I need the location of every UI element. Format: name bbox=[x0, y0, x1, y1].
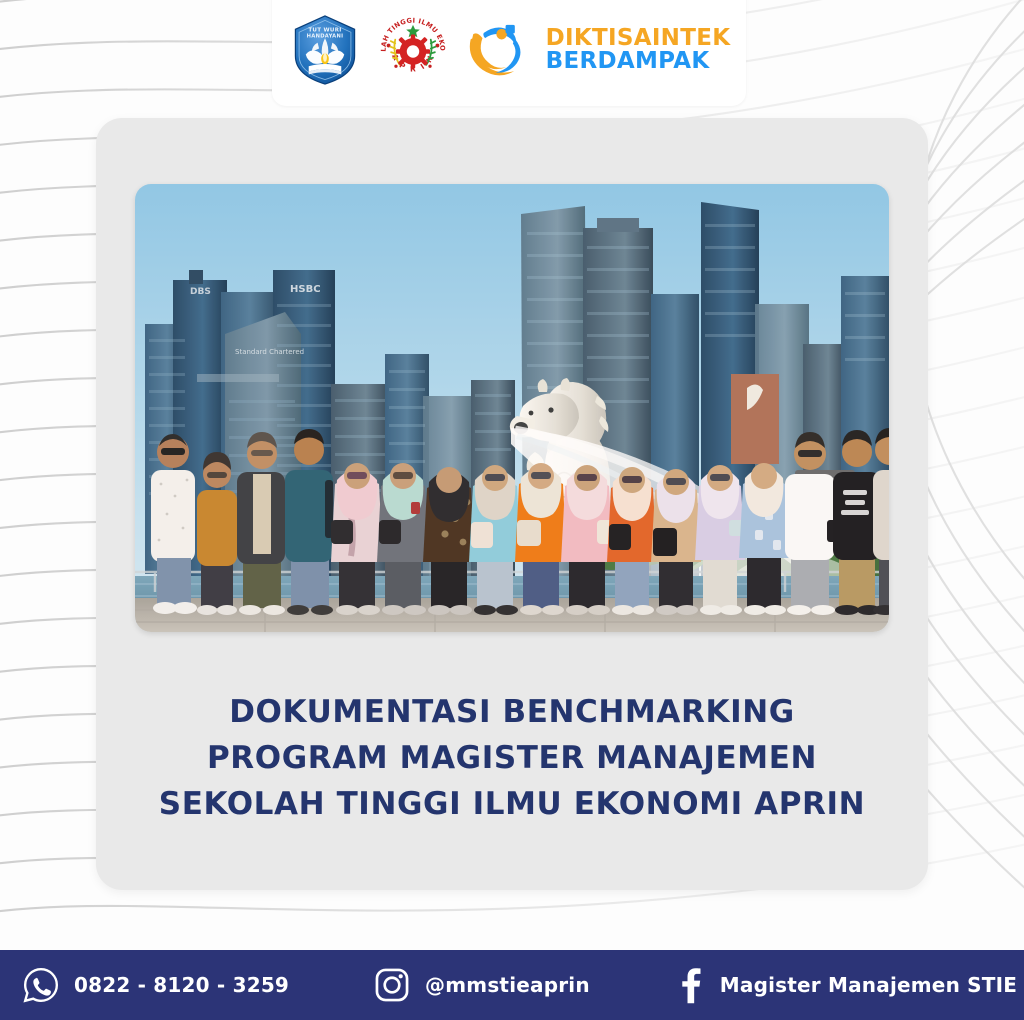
diktisaintek-berdampak-logo bbox=[464, 17, 530, 83]
diktisaintek-line1: DIKTISAINTEK bbox=[546, 27, 731, 50]
instagram-contact[interactable]: @mmstieaprin bbox=[373, 966, 590, 1004]
facebook-page-name: Magister Manajemen STIE APRIN bbox=[720, 973, 1024, 997]
group-photo: HSBC DBS Standard Chartered bbox=[135, 184, 889, 632]
caption-line-3: SEKOLAH TINGGI ILMU EKONOMI APRIN bbox=[96, 782, 928, 828]
diktisaintek-wordmark: DIKTISAINTEK BERDAMPAK bbox=[546, 27, 731, 72]
poster-caption: DOKUMENTASI BENCHMARKING PROGRAM MAGISTE… bbox=[96, 690, 928, 828]
tut-wuri-handayani-logo: TUT WURI HANDAYANI bbox=[288, 13, 362, 87]
poster-canvas: TUT WURI HANDAYANI bbox=[0, 0, 1024, 1020]
instagram-handle: @mmstieaprin bbox=[425, 973, 590, 997]
footer-contact-bar: 0822 - 8120 - 3259 @mmstieaprin Magister… bbox=[0, 950, 1024, 1020]
caption-line-2: PROGRAM MAGISTER MANAJEMEN bbox=[96, 736, 928, 782]
facebook-contact[interactable]: Magister Manajemen STIE APRIN bbox=[676, 966, 1024, 1004]
caption-line-1: DOKUMENTASI BENCHMARKING bbox=[96, 690, 928, 736]
facebook-icon bbox=[676, 966, 706, 1004]
whatsapp-icon bbox=[22, 966, 60, 1004]
header-logo-bar: TUT WURI HANDAYANI bbox=[272, 0, 746, 106]
svg-text:TUT WURI: TUT WURI bbox=[308, 28, 341, 34]
diktisaintek-line2: BERDAMPAK bbox=[546, 50, 731, 73]
whatsapp-contact[interactable]: 0822 - 8120 - 3259 bbox=[22, 966, 289, 1004]
whatsapp-number: 0822 - 8120 - 3259 bbox=[74, 973, 289, 997]
stie-aprin-logo: SEKOLAH TINGGI ILMU EKONOMI A P R I N bbox=[376, 13, 450, 87]
instagram-icon bbox=[373, 966, 411, 1004]
